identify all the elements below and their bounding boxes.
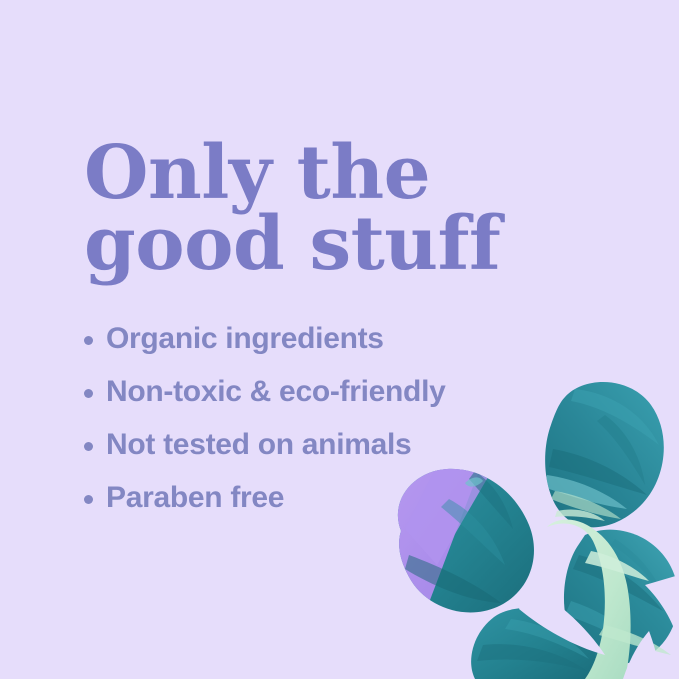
bullet-dot-icon bbox=[84, 389, 93, 398]
list-item: Organic ingredients bbox=[84, 322, 604, 356]
flower-petal-gaps bbox=[519, 575, 679, 679]
list-item: Paraben free bbox=[84, 481, 604, 515]
flower-center-highlight bbox=[547, 509, 671, 679]
benefit-label: Non-toxic & eco-friendly bbox=[106, 375, 446, 409]
list-item: Not tested on animals bbox=[84, 428, 604, 462]
benefit-label: Organic ingredients bbox=[106, 322, 384, 356]
flower-petal-bottom bbox=[471, 608, 596, 679]
promo-poster: Only the good stuff Organic ingredients … bbox=[0, 0, 679, 679]
benefit-label: Not tested on animals bbox=[106, 428, 411, 462]
flower-petal-right bbox=[564, 530, 678, 664]
page-title: Only the good stuff bbox=[84, 138, 604, 280]
bullet-dot-icon bbox=[84, 495, 93, 504]
bullet-dot-icon bbox=[84, 336, 93, 345]
bullet-dot-icon bbox=[84, 442, 93, 451]
marketing-copy-block: Only the good stuff Organic ingredients … bbox=[84, 138, 604, 515]
list-item: Non-toxic & eco-friendly bbox=[84, 375, 604, 409]
benefit-label: Paraben free bbox=[106, 481, 284, 515]
benefit-list: Organic ingredients Non-toxic & eco-frie… bbox=[84, 322, 604, 515]
